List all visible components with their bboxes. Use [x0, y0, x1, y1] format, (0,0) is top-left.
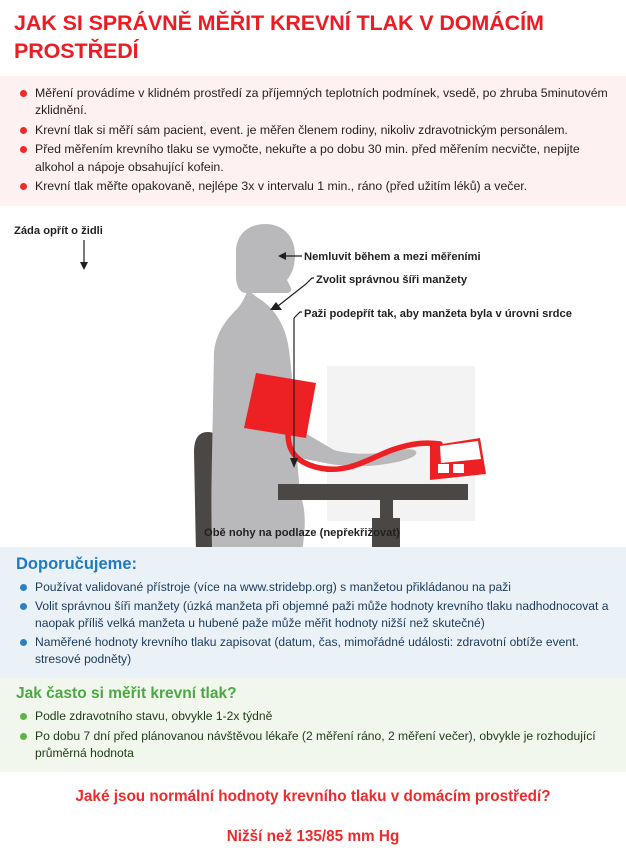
frequency-bullet-list: Podle zdravotního stavu, obvykle 1-2x tý… [16, 708, 610, 762]
callout-label: Obě nohy na podlaze (nepřekřižovat) [204, 527, 400, 539]
recommend-section: Doporučujeme: Používat validované přístr… [0, 547, 626, 679]
list-item: Používat validované přístroje (více na w… [16, 579, 610, 596]
footer-section: Jaké jsou normální hodnoty krevního tlak… [0, 772, 626, 856]
recommend-bullet-list: Používat validované přístroje (více na w… [16, 579, 610, 669]
monitor-button [453, 464, 464, 473]
normal-values-question: Jaké jsou normální hodnoty krevního tlak… [16, 788, 610, 806]
leader-line [294, 312, 302, 318]
callout-label: Nemluvit během a mezi měřeními [304, 251, 481, 263]
arrow-head-icon [80, 262, 88, 270]
list-item: Krevní tlak si měří sám pacient, event. … [16, 122, 610, 139]
recommend-heading: Doporučujeme: [16, 555, 610, 574]
list-item: Naměřené hodnoty krevního tlaku zapisova… [16, 634, 610, 668]
callout-label: Zvolit správnou šíři manžety [316, 274, 468, 286]
page-title: JAK SI SPRÁVNĚ MĚŘIT KREVNÍ TLAK V DOMÁC… [14, 10, 612, 66]
list-item: Podle zdravotního stavu, obvykle 1-2x tý… [16, 708, 610, 725]
list-item: Volit správnou šíři manžety (úzká manžet… [16, 598, 610, 632]
callout-back: Záda opřít o židli [14, 225, 103, 270]
list-item: Před měřením krevního tlaku se vymočte, … [16, 141, 610, 176]
intro-section: Měření provádíme v klidném prostředí za … [0, 76, 626, 206]
callout-no-talking: Nemluvit během a mezi měřeními [278, 251, 481, 263]
callout-label: Paži podepřít tak, aby manžeta byla v úr… [304, 308, 572, 320]
intro-bullet-list: Měření provádíme v klidném prostředí za … [16, 85, 610, 196]
monitor-button [438, 464, 449, 473]
person-head [236, 224, 295, 293]
title-section: JAK SI SPRÁVNĚ MĚŘIT KREVNÍ TLAK V DOMÁC… [0, 0, 626, 70]
illustration-section: Záda opřít o židli Nemluvit během a mezi… [0, 206, 626, 547]
callout-label: Záda opřít o židli [14, 225, 103, 237]
frequency-heading: Jak často si měřit krevní tlak? [16, 685, 610, 703]
frequency-section: Jak často si měřit krevní tlak? Podle zd… [0, 678, 626, 772]
list-item: Krevní tlak měřte opakovaně, nejlépe 3x … [16, 178, 610, 195]
leader-line [306, 278, 314, 284]
callout-cuff-width: Zvolit správnou šíři manžety [270, 274, 468, 310]
list-item: Po dobu 7 dní před plánovanou návštěvou … [16, 728, 610, 762]
list-item: Měření provádíme v klidném prostředí za … [16, 85, 610, 120]
cuff-band [244, 373, 316, 438]
desk-top [278, 484, 468, 500]
seated-measurement-diagram: Záda opřít o židli Nemluvit během a mezi… [0, 206, 626, 547]
normal-values-answer: Nižší než 135/85 mm Hg [16, 828, 610, 846]
arrow-head-icon [270, 302, 282, 310]
